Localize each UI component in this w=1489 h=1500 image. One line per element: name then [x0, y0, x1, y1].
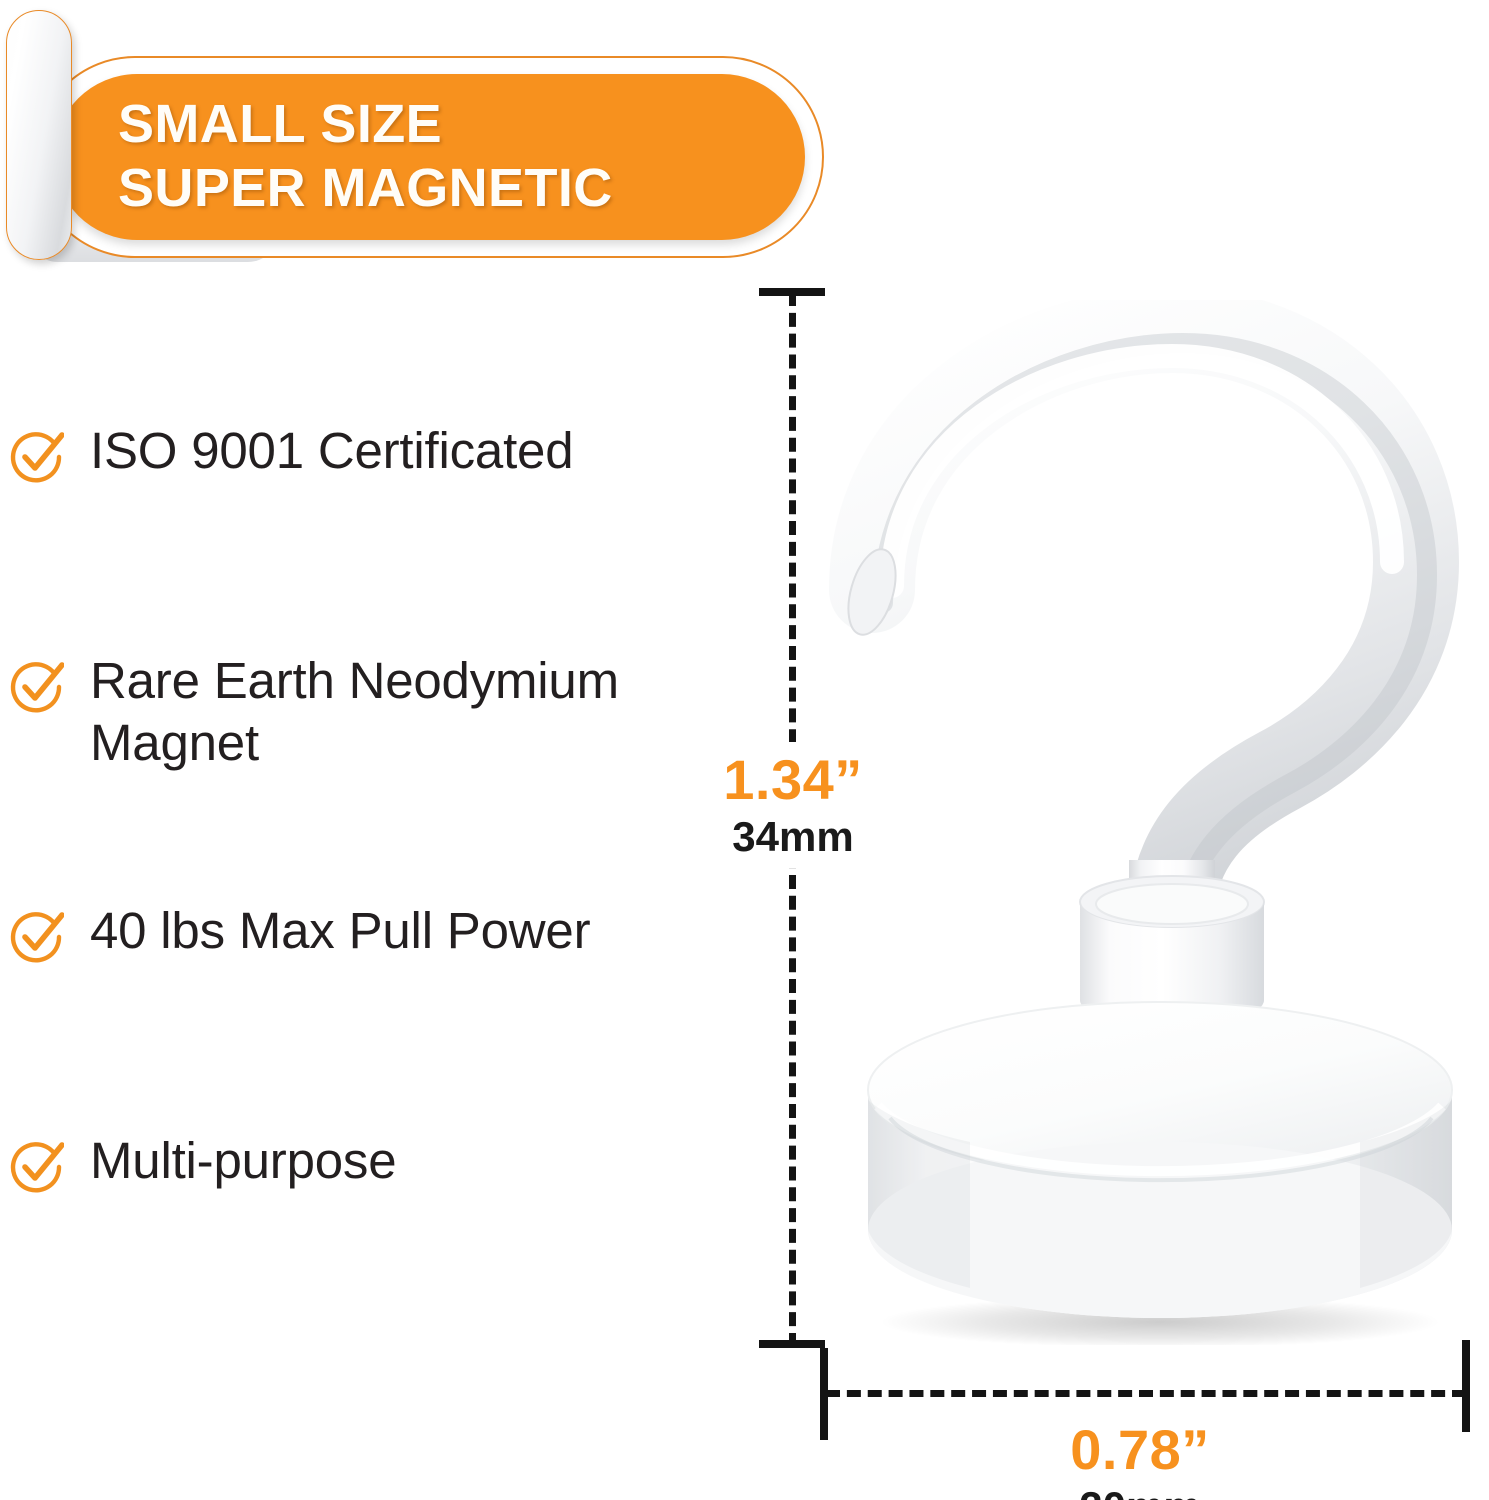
feature-list: ISO 9001 Certificated Rare Earth Neodymi…: [0, 420, 770, 1194]
width-imperial-value: 0.78”: [1020, 1418, 1260, 1482]
width-dimension-label: 0.78” 20mm: [1020, 1414, 1260, 1500]
headline-banner: SMALL SIZE SUPER MAGNETIC: [0, 0, 860, 290]
height-dimension-cap-bottom: [759, 1340, 825, 1348]
width-metric-value: 20mm: [1020, 1482, 1260, 1500]
width-dimension-line: [826, 1390, 1466, 1397]
feature-label: Rare Earth Neodymium Magnet: [90, 650, 750, 774]
circle-check-icon: [10, 1140, 64, 1194]
banner-headline-line-1: SMALL SIZE: [118, 92, 738, 156]
feature-label: Multi-purpose: [90, 1130, 396, 1192]
magnetic-hook-image: [820, 300, 1480, 1345]
feature-item: Multi-purpose: [0, 1130, 770, 1194]
feature-item: Rare Earth Neodymium Magnet: [0, 650, 770, 900]
height-dimension-label: 1.34” 34mm: [678, 742, 908, 868]
feature-item: 40 lbs Max Pull Power: [0, 900, 770, 1130]
feature-label: ISO 9001 Certificated: [90, 420, 573, 482]
banner-headline: SMALL SIZE SUPER MAGNETIC: [118, 92, 738, 220]
banner-headline-line-2: SUPER MAGNETIC: [118, 156, 738, 220]
circle-check-icon: [10, 430, 64, 484]
product-infographic: SMALL SIZE SUPER MAGNETIC ISO 9001 Certi…: [0, 0, 1489, 1500]
feature-item: ISO 9001 Certificated: [0, 420, 770, 650]
height-metric-value: 34mm: [678, 812, 908, 862]
circle-check-icon: [10, 660, 64, 714]
height-imperial-value: 1.34”: [678, 748, 908, 812]
width-dimension-cap-right: [1462, 1340, 1470, 1432]
feature-label: 40 lbs Max Pull Power: [90, 900, 590, 962]
ribbon-fold-icon: [6, 10, 72, 260]
circle-check-icon: [10, 910, 64, 964]
